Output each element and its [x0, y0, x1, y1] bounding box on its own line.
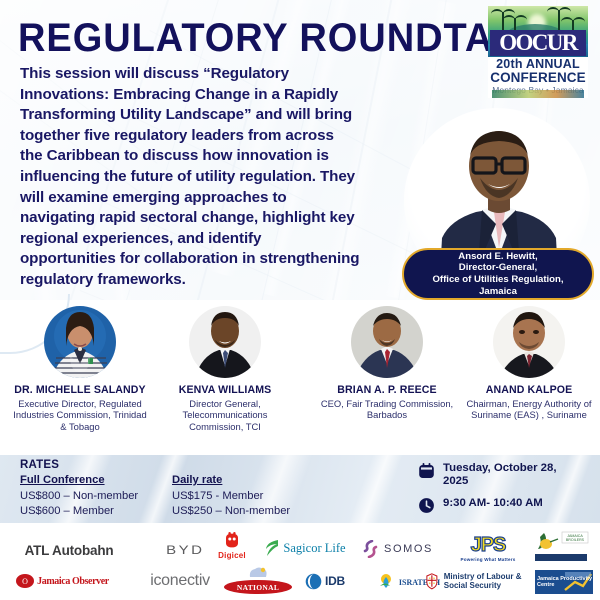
sponsor-name-iconectiv: iconectiv — [150, 572, 210, 590]
panelist-photo — [44, 306, 116, 378]
full-conference-heading: Full Conference — [20, 474, 138, 486]
session-description: This session will discuss “Regulatory In… — [20, 64, 360, 291]
oocur-wordmark: OOCUR — [490, 30, 586, 56]
daily-rate-nonmember: US$250 – Non-member — [172, 504, 290, 519]
panelist-role: CEO, Fair Trading Commission, Barbados — [312, 398, 462, 421]
featured-speaker-title: Director-General, — [459, 262, 537, 274]
full-conference-rate-member: US$600 – Member — [20, 504, 138, 519]
panelist-photo — [351, 306, 423, 378]
national-bread-icon — [247, 566, 269, 579]
sponsor-logo-jamaica-productivity-centre: Jamaica Productivity Centre — [534, 569, 594, 595]
panelist-card: ANAND KALPOE Chairman, Energy Authority … — [464, 306, 594, 421]
sponsor-name-ministry-of-labour: Ministry of Labour & Social Security — [444, 572, 542, 590]
sponsor-logo-ministry-of-labour: Ministry of Labour & Social Security — [424, 567, 542, 595]
sponsor-logo-somos: SOMOS — [344, 537, 452, 561]
daily-rate-member: US$175 - Member — [172, 489, 290, 504]
daily-rates: Daily rate US$175 - Member US$250 – Non-… — [172, 474, 290, 518]
isratech-droplet-icon — [376, 572, 396, 592]
sponsor-name-jps: JPS — [471, 534, 506, 557]
featured-speaker-country: Jamaica — [479, 286, 517, 298]
panelist-role: Executive Director, Regulated Industries… — [10, 398, 150, 432]
clock-icon — [418, 497, 435, 514]
sponsor-name-byd: BYD — [166, 543, 204, 557]
sponsor-logo-jps: JPS Powering What Matters — [440, 531, 536, 565]
somos-mark-icon — [363, 540, 378, 558]
jamaica-coat-of-arms-icon — [424, 569, 440, 593]
sponsor-name-jamaica-productivity-centre: Jamaica Productivity Centre — [535, 576, 593, 588]
sponsor-name-national: NATIONAL — [237, 583, 279, 592]
digicel-mark-icon — [224, 532, 240, 549]
panelist-photo — [189, 306, 261, 378]
panelist-role: Director General, Telecommunications Com… — [160, 398, 290, 432]
conference-word: CONFERENCE — [488, 71, 588, 85]
sponsor-logo-jamaica-observer: O Jamaica Observer — [8, 569, 116, 593]
sponsor-name-digicel: Digicel — [218, 551, 246, 560]
idb-mark-icon — [305, 573, 322, 590]
full-conference-rates: Full Conference US$800 – Non-member US$6… — [20, 474, 138, 518]
panelist-name: KENVA WILLIAMS — [160, 384, 290, 396]
panelist-name: ANAND KALPOE — [464, 384, 594, 396]
session-date-row: Tuesday, October 28, 2025 — [418, 462, 573, 489]
sponsor-logo-atl-autobahn: ATL Autobahn — [14, 539, 124, 561]
oocur-conference-logo: OOCUR 20th ANNUAL CONFERENCE Montego Bay… — [488, 6, 588, 98]
sponsor-logo-jamaica-broilers-group: JAMAICA BROILERS — [530, 529, 592, 565]
panelist-card: KENVA WILLIAMS Director General, Telecom… — [160, 306, 290, 432]
session-date: Tuesday, October 28, 2025 — [443, 462, 573, 489]
panelist-name: BRIAN A. P. REECE — [312, 384, 462, 396]
observer-mark-icon: O — [15, 572, 35, 590]
featured-speaker-org: Office of Utilities Regulation, — [432, 274, 563, 286]
daily-rate-heading: Daily rate — [172, 474, 290, 486]
svg-text:BROILERS: BROILERS — [566, 538, 585, 542]
sponsor-logo-idb: IDB — [286, 569, 364, 593]
sponsor-name-atl-autobahn: ATL Autobahn — [25, 543, 114, 558]
featured-speaker-name: Ansord E. Hewitt, — [458, 251, 537, 263]
conference-session-poster: REGULATORY ROUNDTABLE This session will … — [0, 0, 600, 600]
session-time-row: 9:30 AM- 10:40 AM — [418, 497, 573, 514]
sponsor-name-sagicor-life: Sagicor Life — [283, 541, 345, 556]
panelist-name: DR. MICHELLE SALANDY — [10, 384, 150, 396]
panelist-card: BRIAN A. P. REECE CEO, Fair Trading Comm… — [312, 306, 462, 421]
session-schedule: Tuesday, October 28, 2025 9:30 AM- 10:40… — [418, 462, 573, 522]
sponsor-name-somos: SOMOS — [384, 543, 433, 555]
calendar-icon — [418, 462, 435, 479]
sponsor-logos-strip: ATL Autobahn BYD Digicel Sagicor Life — [0, 523, 600, 600]
logo-color-strip — [492, 90, 584, 98]
panelist-photo — [493, 306, 565, 378]
sponsor-name-jamaica-observer: Jamaica Observer — [37, 576, 109, 587]
sagicor-leaf-icon — [264, 539, 280, 557]
panelist-card: DR. MICHELLE SALANDY Executive Director,… — [10, 306, 150, 432]
sponsor-name-idb: IDB — [325, 574, 345, 588]
full-conference-rate-nonmember: US$800 – Non-member — [20, 489, 138, 504]
rates-heading: RATES — [20, 459, 59, 471]
session-time: 9:30 AM- 10:40 AM — [443, 497, 543, 510]
featured-speaker-nameplate: Ansord E. Hewitt, Director-General, Offi… — [402, 248, 594, 300]
panelist-role: Chairman, Energy Authority of Suriname (… — [464, 398, 594, 421]
sponsor-logo-sagicor-life: Sagicor Life — [252, 535, 358, 561]
oocur-wordmark-text: OOCUR — [499, 30, 577, 56]
svg-text:O: O — [22, 577, 28, 586]
jamaica-broilers-hummingbird-icon: JAMAICA BROILERS — [532, 529, 590, 553]
sponsor-tagline-jps: Powering What Matters — [461, 557, 516, 562]
